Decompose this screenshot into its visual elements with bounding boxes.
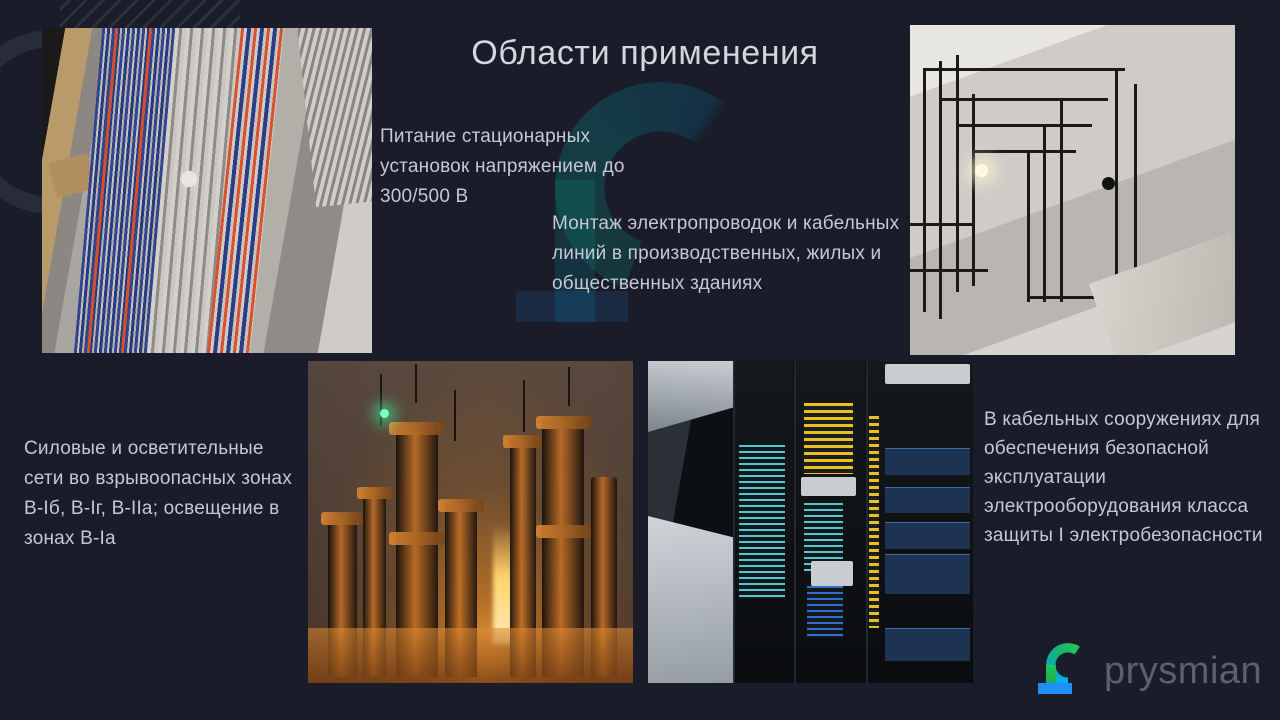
text-cable-facilities: В кабельных сооружениях для обеспечения … [984,405,1274,550]
text-power-supply: Питание стационарных установок напряжени… [380,122,680,212]
text-wiring-installation: Монтаж электропроводок и кабельных линий… [552,209,912,299]
prysmian-mark-icon [1038,643,1094,699]
photo-conduit-installation [42,28,372,353]
slide-root: Области применения Питание стационарных … [0,0,1280,720]
photo-data-center [648,361,973,683]
page-title: Области применения [380,30,910,76]
prysmian-wordmark: prysmian [1104,649,1262,693]
photo-ceiling-conduits [910,25,1235,355]
text-explosive-zones: Силовые и осветительные сети во взрывооп… [24,434,302,554]
photo-refinery-night [308,361,633,683]
prysmian-logo: prysmian [1038,643,1266,703]
